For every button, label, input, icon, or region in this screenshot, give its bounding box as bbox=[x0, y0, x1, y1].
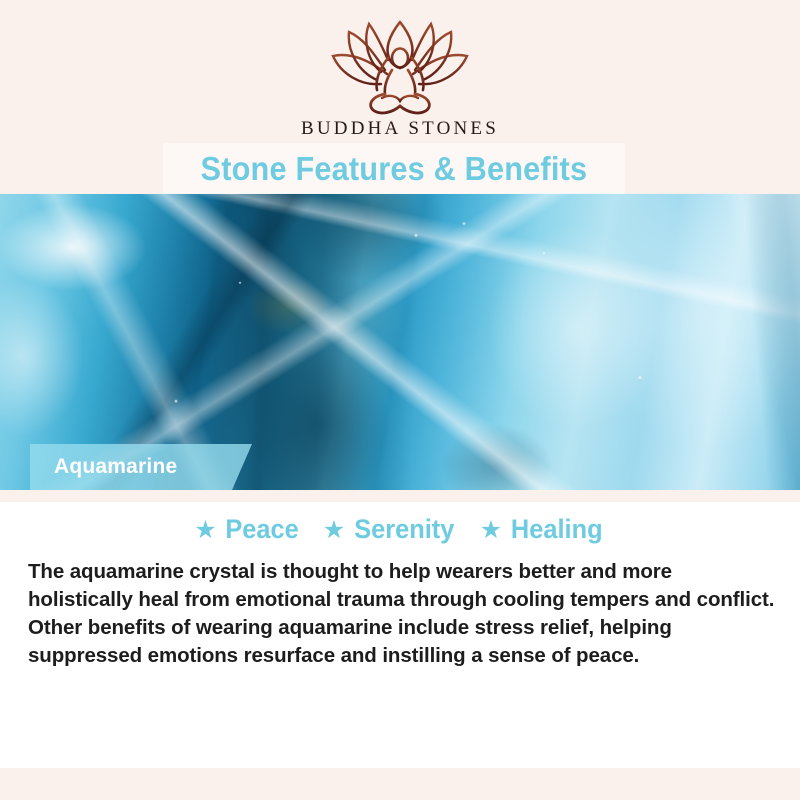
star-icon: ★ bbox=[194, 515, 216, 545]
page-title: Stone Features & Benefits bbox=[201, 150, 588, 188]
keyword-item-healing: ★Healing bbox=[480, 514, 606, 545]
header-section: BUDDHA STONES Stone Features & Benefits bbox=[0, 0, 800, 194]
content-panel: ★Peace ★Serenity ★Healing The aquamarine… bbox=[0, 490, 800, 768]
stone-description-text: The aquamarine crystal is thought to hel… bbox=[28, 558, 776, 670]
footer-strip bbox=[0, 768, 800, 800]
keyword-label: Healing bbox=[511, 514, 603, 545]
stone-name-label: Aquamarine bbox=[54, 455, 177, 479]
keyword-label: Serenity bbox=[354, 514, 454, 545]
keyword-list: ★Peace ★Serenity ★Healing bbox=[0, 514, 800, 545]
keyword-item-serenity: ★Serenity bbox=[323, 514, 458, 545]
page-title-plaque: Stone Features & Benefits bbox=[163, 143, 625, 194]
star-icon: ★ bbox=[480, 515, 502, 545]
brand-wordmark: BUDDHA STONES bbox=[250, 118, 550, 140]
lotus-meditation-icon bbox=[325, 18, 475, 116]
keyword-item-peace: ★Peace bbox=[194, 514, 301, 545]
keyword-label: Peace bbox=[225, 514, 298, 545]
hero-caption-band: Aquamarine bbox=[30, 444, 252, 490]
hero-crystal-image: Aquamarine bbox=[0, 194, 800, 490]
panel-top-divider bbox=[0, 490, 800, 502]
star-icon: ★ bbox=[323, 515, 345, 545]
brand-logo: BUDDHA STONES bbox=[250, 18, 550, 140]
